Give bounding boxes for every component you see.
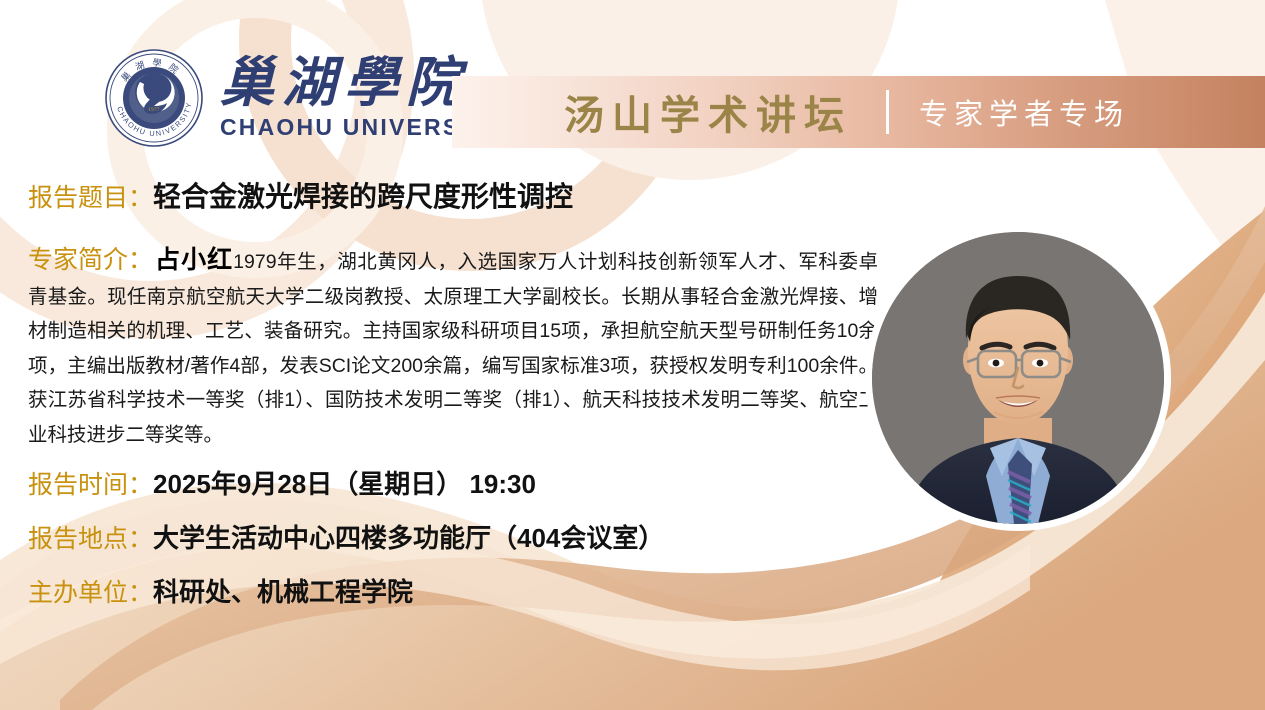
speaker-bio-row: 专家简介： 占小红1979年生，湖北黄冈人，入选国家万人计划科技创新领军人才、军…: [28, 243, 878, 452]
speaker-bio-body: 1979年生，湖北黄冈人，入选国家万人计划科技创新领军人才、军科委卓青基金。现任…: [28, 251, 878, 446]
speaker-name: 占小红: [155, 246, 233, 274]
talk-host-label: 主办单位：: [28, 573, 153, 609]
talk-title-value: 轻合金激光焊接的跨尺度形性调控: [153, 175, 573, 215]
talk-place-value: 大学生活动中心四楼多功能厅（404会议室）: [153, 518, 664, 555]
speaker-portrait-image: [872, 232, 1164, 524]
talk-time-label: 报告时间：: [28, 465, 153, 501]
talk-title-row: 报告题目： 轻合金激光焊接的跨尺度形性调控: [28, 175, 573, 215]
speaker-bio-label: 专家简介：: [28, 243, 153, 277]
talk-place-row: 报告地点： 大学生活动中心四楼多功能厅（404会议室）: [28, 518, 664, 555]
talk-place-label: 报告地点：: [28, 519, 153, 555]
talk-host-row: 主办单位： 科研处、机械工程学院: [28, 572, 413, 609]
speaker-portrait: [872, 232, 1164, 524]
talk-time-value: 2025年9月28日（星期日） 19:30: [153, 464, 536, 501]
talk-host-value: 科研处、机械工程学院: [153, 572, 413, 609]
talk-title-label: 报告题目：: [28, 178, 153, 214]
speaker-bio-text: 占小红1979年生，湖北黄冈人，入选国家万人计划科技创新领军人才、军科委卓青基金…: [28, 243, 878, 452]
talk-time-row: 报告时间： 2025年9月28日（星期日） 19:30: [28, 464, 536, 501]
poster: 1977 巢湖學院 CHAOHU UNIVERSITY 巢湖學院 CHAOHU …: [0, 0, 1265, 710]
